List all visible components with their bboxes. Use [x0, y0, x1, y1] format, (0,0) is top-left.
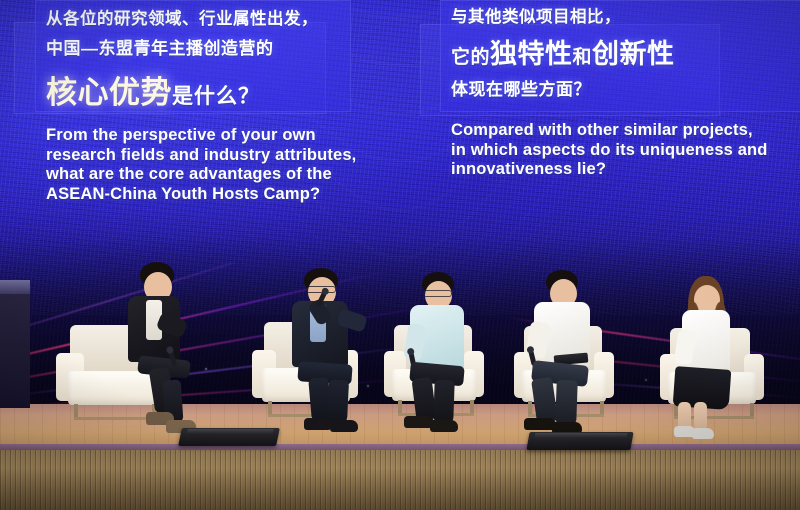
lectern — [0, 280, 30, 408]
left-english-line-1: From the perspective of your own — [46, 126, 386, 146]
left-english-line-2: research fields and industry attributes, — [46, 146, 386, 166]
right-chinese-line-3: 体现在哪些方面？ — [451, 75, 800, 105]
right-english-block: Compared with other similar projects, in… — [451, 121, 800, 180]
left-english-line-3: what are the core advantages of the — [46, 165, 386, 185]
right-chinese-accent-2: 创新性 — [592, 39, 675, 69]
question-card-right: 与其他类似项目相比， 它的独特性和创新性 体现在哪些方面？ Compared w… — [451, 4, 800, 204]
conference-stage-screenshot: 从各位的研究领域、行业属性出发， 中国—东盟青年主播创造营的 核心优势是什么？ … — [0, 0, 800, 510]
panelist-host-left — [118, 262, 208, 430]
left-chinese-line-2: 中国—东盟青年主播创造营的 — [46, 34, 386, 64]
stage-floor-monitor — [526, 432, 633, 450]
panelist-woman-right — [672, 276, 758, 436]
stage-apron — [0, 450, 800, 510]
right-english-line-1: Compared with other similar projects, — [451, 121, 800, 141]
right-chinese-line-2-a: 它的 — [451, 47, 490, 68]
left-chinese-line-1: 从各位的研究领域、行业属性出发， — [46, 6, 386, 32]
stage-floor-monitor — [178, 428, 280, 446]
glasses-icon — [423, 290, 452, 297]
question-card-left: 从各位的研究领域、行业属性出发， 中国—东盟青年主播创造营的 核心优势是什么？ … — [46, 6, 386, 206]
panelist-speaking — [286, 268, 378, 430]
left-english-block: From the perspective of your own researc… — [46, 126, 386, 204]
right-english-line-2: in which aspects do its uniqueness and — [451, 141, 800, 161]
left-chinese-accent: 核心优势 — [46, 75, 172, 110]
panelist-light-blue-shirt — [404, 272, 490, 430]
right-chinese-line-1: 与其他类似项目相比， — [451, 4, 800, 31]
right-chinese-line-2-b: 和 — [573, 47, 593, 68]
left-chinese-line-3: 核心优势是什么？ — [46, 67, 386, 112]
panelist-white-shirt — [528, 270, 618, 430]
right-english-line-3: innovativeness lie? — [451, 160, 800, 180]
right-chinese-line-2: 它的独特性和创新性 — [451, 32, 800, 71]
left-english-line-4: ASEAN-China Youth Hosts Camp? — [46, 185, 386, 205]
right-chinese-accent-1: 独特性 — [490, 39, 573, 69]
left-chinese-line-3-rest: 是什么？ — [172, 85, 260, 108]
panelist-2-shoe — [304, 418, 332, 430]
